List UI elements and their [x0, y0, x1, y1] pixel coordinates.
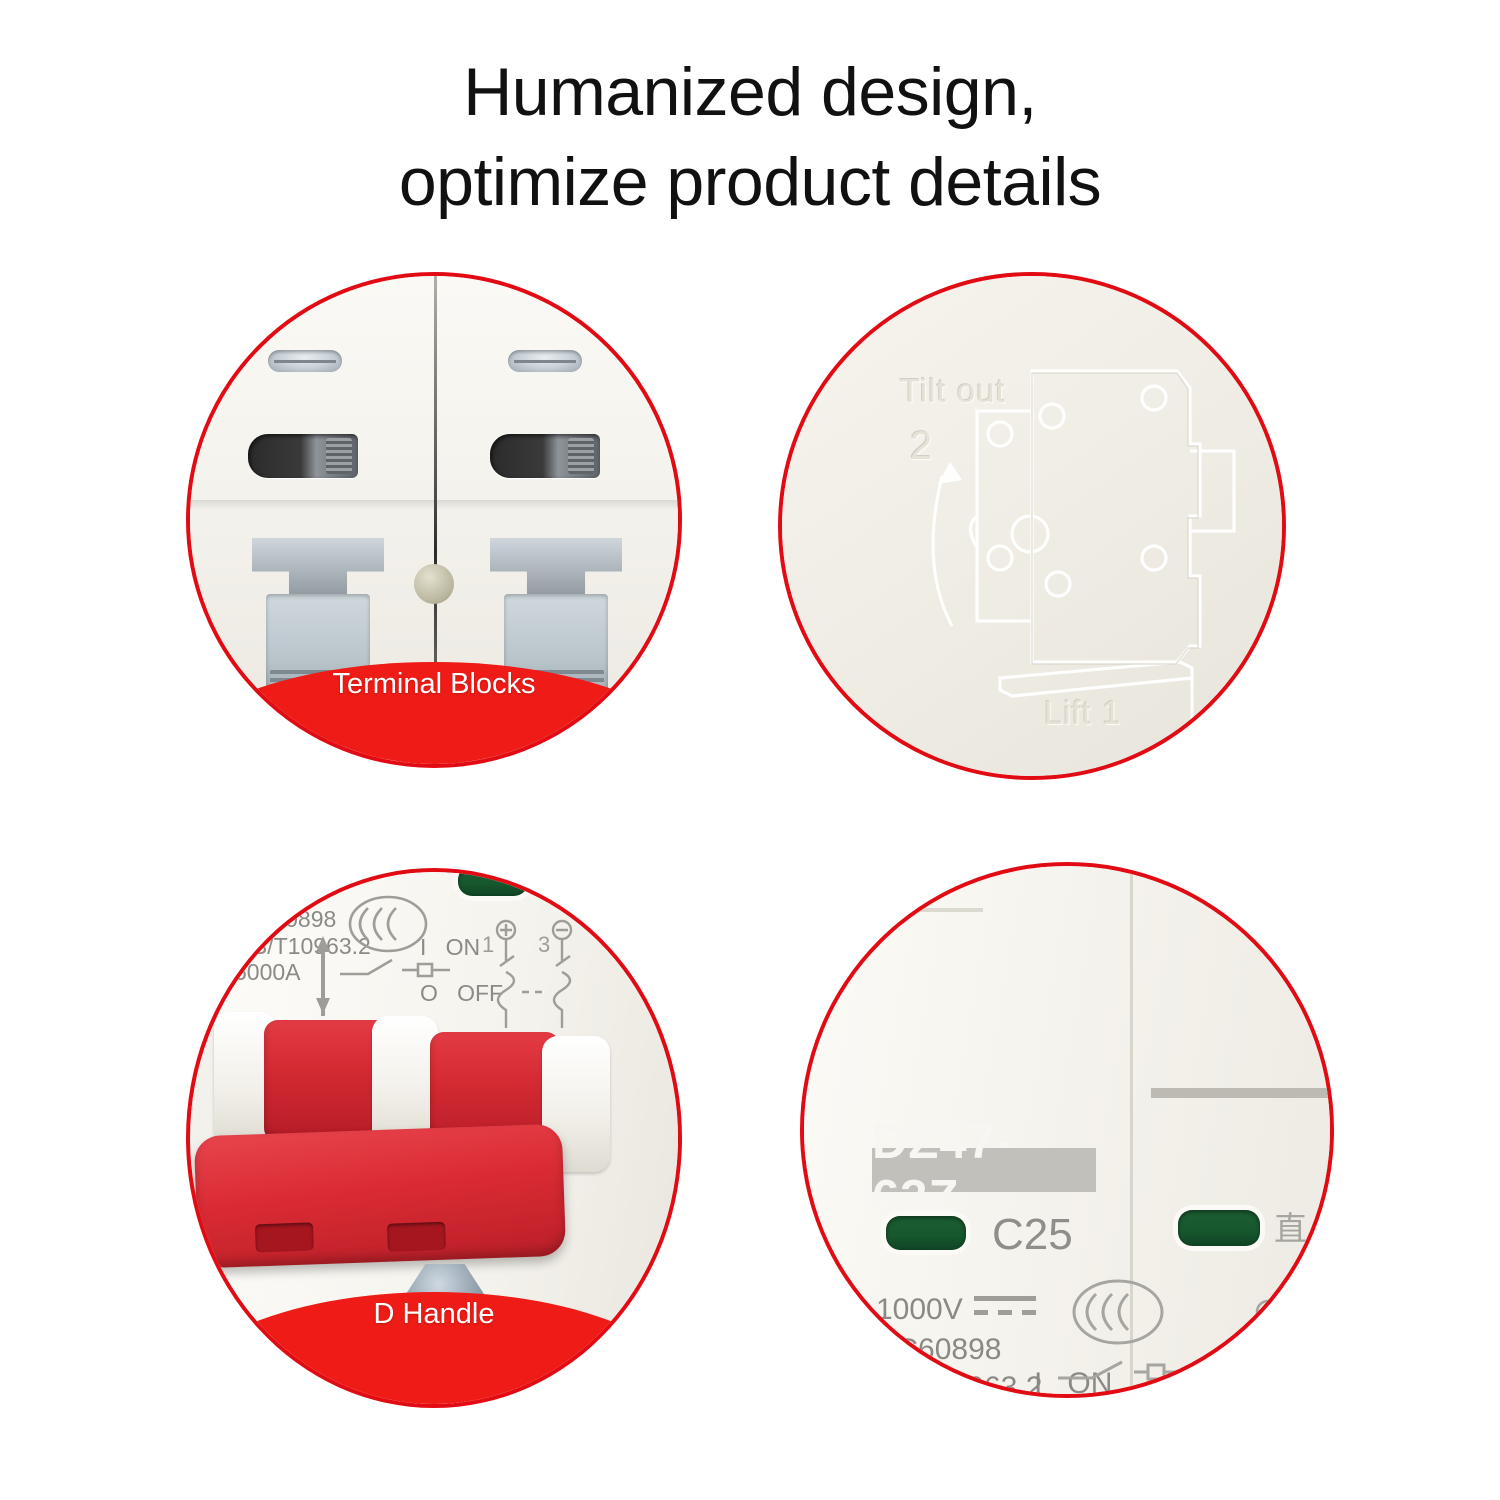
ccc-certification-icon-nameplate [1052, 1276, 1232, 1398]
product-detail-page: Humanized design, optimize product detai… [0, 0, 1500, 1500]
voltage-rating: 1000V [876, 1292, 963, 1329]
chinese-marking: 直 [1274, 1202, 1307, 1250]
d-handle-lever[interactable] [194, 1124, 566, 1269]
headline-line-1: Humanized design, [463, 54, 1037, 130]
panel-label-d-handle: D Handle [374, 1298, 495, 1331]
headline-line-2: optimize product details [0, 138, 1500, 228]
housing-groove-top [846, 908, 983, 912]
panel-d-handle: IEC60898 GB/T10963.2 6000A I ON O OFF [186, 868, 682, 1408]
panel-terminal-blocks: Terminal Blocks [186, 272, 682, 768]
screw-hole-right [508, 350, 582, 372]
emboss-lift-1-text: Lift 1 [1044, 694, 1122, 732]
legend-on-symbol-nameplate: I [1034, 1367, 1042, 1398]
panel-din-rail-release: Tilt out 2 Lift 1 [778, 272, 1286, 780]
dc-current-icon [972, 1290, 1052, 1324]
nameplate-photo: DZ47-63Z C25 1000V IEC60898 GB/T10963.2 … [804, 866, 1330, 1394]
embossed-diagram-icon [782, 276, 1282, 776]
model-name-band: DZ47-63Z [872, 1148, 1096, 1192]
panel-label-terminal-blocks: Terminal Blocks [332, 668, 535, 701]
emboss-tilt-out-text: Tilt out [900, 372, 1006, 410]
svg-text:3: 3 [538, 932, 550, 957]
din-rail-release-photo: Tilt out 2 Lift 1 [782, 276, 1282, 776]
standard-gb: GB/T10963.2 [864, 1370, 1042, 1398]
padlock-slot-2 [387, 1222, 446, 1252]
terminal-slot-left [248, 434, 358, 478]
clamp-plate-right [490, 538, 622, 600]
terminal-polarity-icon: 1 [1228, 1296, 1298, 1386]
panel-nameplate: DZ47-63Z C25 1000V IEC60898 GB/T10963.2 … [800, 862, 1334, 1398]
center-pin [414, 564, 454, 604]
toggle-collar-mid [372, 1016, 438, 1146]
page-title: Humanized design, optimize product detai… [0, 48, 1500, 228]
status-indicator-window-left [886, 1216, 966, 1250]
svg-text:1: 1 [482, 932, 494, 957]
clamp-plate-left [252, 538, 384, 600]
pole-seam-front [190, 872, 193, 1111]
screw-hole-left [268, 350, 342, 372]
terminal-slot-right [490, 434, 600, 478]
current-rating: C25 [992, 1210, 1073, 1260]
emboss-step-2: 2 [910, 424, 932, 469]
module-groove [1151, 1088, 1330, 1098]
terminal-number: 1 [1236, 1323, 1252, 1354]
status-indicator-window-right [1178, 1210, 1260, 1246]
standard-iec: IEC60898 [868, 1332, 1001, 1369]
status-indicator-window [458, 868, 528, 896]
padlock-slot-1 [255, 1222, 314, 1252]
